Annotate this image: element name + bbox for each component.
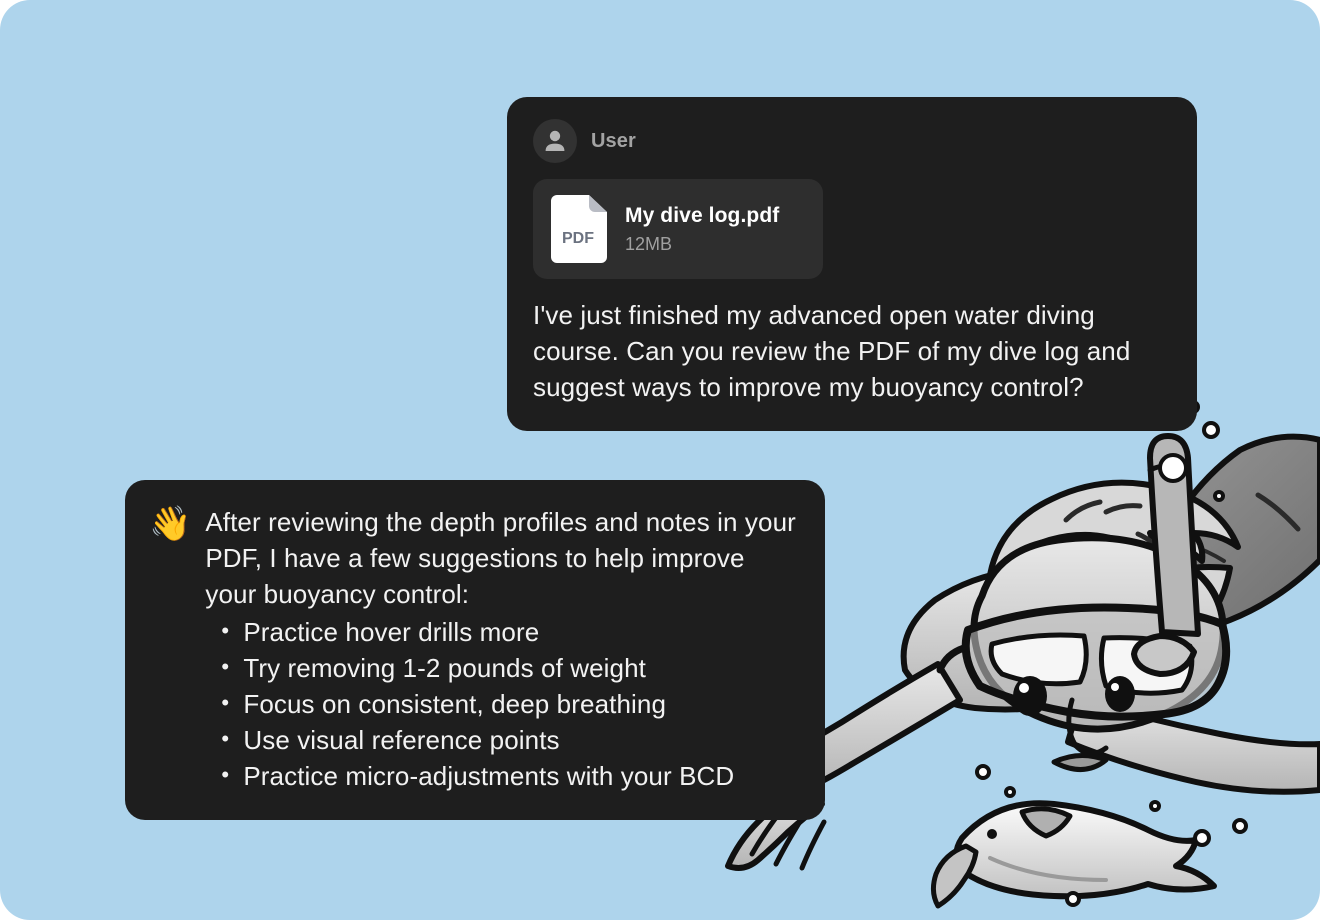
user-message-bubble: User PDF My dive log.pdf 12MB I've just …: [507, 97, 1197, 431]
user-name-label: User: [591, 130, 636, 153]
suggestions-list: Practice hover drills more Try removing …: [205, 614, 797, 794]
user-message-text: I've just finished my advanced open wate…: [533, 297, 1171, 405]
file-metadata: My dive log.pdf 12MB: [625, 204, 779, 255]
list-item: Try removing 1-2 pounds of weight: [243, 650, 797, 686]
air-bubbles: [977, 394, 1246, 905]
file-size-label: 12MB: [625, 234, 779, 255]
list-item: Practice hover drills more: [243, 614, 797, 650]
assistant-message-bubble: 👋 After reviewing the depth profiles and…: [125, 480, 825, 820]
pdf-file-icon: PDF: [551, 195, 607, 263]
waving-hand-icon: 👋: [149, 504, 191, 542]
person-avatar-icon: [533, 119, 577, 163]
pdf-attachment-card[interactable]: PDF My dive log.pdf 12MB: [533, 179, 823, 279]
list-item: Use visual reference points: [243, 722, 797, 758]
list-item: Focus on consistent, deep breathing: [243, 686, 797, 722]
screenshot-canvas: User PDF My dive log.pdf 12MB I've just …: [0, 0, 1320, 920]
fish-illustration: [933, 803, 1214, 906]
svg-text:PDF: PDF: [562, 230, 594, 247]
file-name-label: My dive log.pdf: [625, 204, 779, 228]
list-item: Practice micro-adjustments with your BCD: [243, 758, 797, 794]
user-message-header: User: [533, 119, 1171, 163]
assistant-intro-text: After reviewing the depth profiles and n…: [205, 504, 797, 612]
